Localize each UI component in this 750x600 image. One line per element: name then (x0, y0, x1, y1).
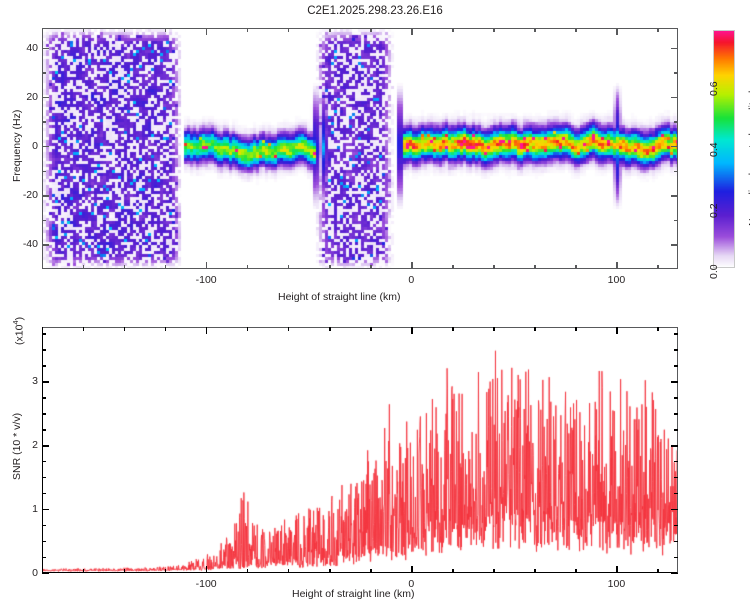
y-major-tick (42, 381, 49, 382)
x-tick-label: 0 (397, 275, 425, 286)
x-minor-tick-top (657, 327, 658, 331)
y-minor-tick (42, 525, 46, 526)
x-minor-tick (329, 265, 330, 269)
y-major-tick-right (671, 509, 678, 510)
y-minor-tick (42, 557, 46, 558)
x-minor-tick (657, 265, 658, 269)
y-minor-tick-right (674, 333, 678, 334)
y-tick-label: 1 (16, 504, 38, 515)
x-minor-tick (165, 569, 166, 573)
y-major-tick (42, 244, 49, 245)
y-minor-tick-right (674, 397, 678, 398)
y-tick-label: 20 (16, 92, 38, 103)
colorbar-tick-label: 0.4 (709, 142, 720, 157)
y-major-tick (42, 146, 49, 147)
y-minor-tick (42, 493, 46, 494)
snr-x-axis-label: Height of straight line (km) (292, 589, 415, 600)
y-minor-tick-right (674, 220, 678, 221)
y-tick-label: 0 (16, 568, 38, 579)
y-minor-tick-right (674, 429, 678, 430)
x-minor-tick-top (124, 327, 125, 331)
x-major-tick-top (206, 28, 207, 35)
y-minor-tick-right (674, 171, 678, 172)
y-minor-tick (42, 541, 46, 542)
y-major-tick-right (671, 48, 678, 49)
y-minor-tick-right (674, 349, 678, 350)
x-minor-tick-top (165, 28, 166, 32)
x-minor-tick-top (288, 28, 289, 32)
y-major-tick-right (671, 244, 678, 245)
x-minor-tick (329, 569, 330, 573)
y-minor-tick (42, 413, 46, 414)
figure-canvas: C2E1.2025.298.23.26.E16 -1000100-40-2002… (0, 0, 750, 600)
x-tick-label: -100 (192, 579, 220, 590)
snr-y-axis-exponent: (x104) (12, 317, 25, 345)
x-major-tick-top (206, 327, 207, 334)
y-tick-label: 3 (16, 376, 38, 387)
y-minor-tick-right (674, 365, 678, 366)
x-minor-tick-top (247, 28, 248, 32)
y-minor-tick-right (674, 477, 678, 478)
x-major-tick-top (616, 28, 617, 35)
spectrogram-y-axis-label: Frequency (Hz) (12, 110, 23, 182)
x-minor-tick-top (42, 28, 43, 32)
y-major-tick-right (671, 381, 678, 382)
colorbar-tick-label: 0.2 (709, 203, 720, 218)
x-minor-tick-top (124, 28, 125, 32)
x-minor-tick-top (370, 327, 371, 331)
x-minor-tick (83, 265, 84, 269)
x-minor-tick (288, 569, 289, 573)
snr-trace (43, 328, 677, 572)
y-minor-tick-right (674, 541, 678, 542)
snr-exponent-prefix: (x10 (14, 325, 26, 345)
x-tick-label: -100 (192, 275, 220, 286)
x-minor-tick (493, 569, 494, 573)
y-major-tick (42, 195, 49, 196)
x-minor-tick-top (370, 28, 371, 32)
snr-exponent-suffix: ) (14, 317, 26, 321)
x-minor-tick-top (534, 28, 535, 32)
y-major-tick-right (671, 146, 678, 147)
y-minor-tick-right (674, 413, 678, 414)
x-minor-tick-top (493, 28, 494, 32)
x-minor-tick (534, 569, 535, 573)
y-major-tick-right (671, 445, 678, 446)
x-minor-tick (452, 265, 453, 269)
y-minor-tick (42, 121, 46, 122)
x-minor-tick (247, 569, 248, 573)
y-minor-tick (42, 429, 46, 430)
y-tick-label: -40 (16, 239, 38, 250)
y-minor-tick (42, 349, 46, 350)
y-minor-tick-right (674, 493, 678, 494)
x-minor-tick-top (42, 327, 43, 331)
spectrogram-image (43, 29, 677, 268)
snr-y-axis-label: SNR (10 * v/v) (12, 413, 23, 480)
x-minor-tick (247, 265, 248, 269)
x-tick-label: 100 (602, 579, 630, 590)
x-minor-tick (124, 265, 125, 269)
x-major-tick (411, 262, 412, 269)
y-minor-tick (42, 171, 46, 172)
x-minor-tick-top (452, 28, 453, 32)
x-minor-tick-top (534, 327, 535, 331)
x-minor-tick-top (83, 28, 84, 32)
x-minor-tick (657, 569, 658, 573)
spectrogram-x-axis-label: Height of straight line (km) (278, 292, 401, 303)
x-major-tick-top (411, 28, 412, 35)
y-minor-tick-right (674, 461, 678, 462)
x-minor-tick (124, 569, 125, 573)
y-tick-label: 40 (16, 43, 38, 54)
y-major-tick-right (671, 573, 678, 574)
y-minor-tick (42, 333, 46, 334)
x-major-tick (616, 566, 617, 573)
y-major-tick (42, 97, 49, 98)
x-major-tick (411, 566, 412, 573)
x-minor-tick (165, 265, 166, 269)
x-major-tick (616, 262, 617, 269)
x-minor-tick-top (329, 327, 330, 331)
colorbar-tick-label: 0.6 (709, 81, 720, 96)
x-minor-tick (370, 569, 371, 573)
x-minor-tick (288, 265, 289, 269)
x-minor-tick (370, 265, 371, 269)
y-major-tick (42, 48, 49, 49)
x-minor-tick-top (452, 327, 453, 331)
x-minor-tick (42, 265, 43, 269)
y-minor-tick-right (674, 525, 678, 526)
x-major-tick (206, 566, 207, 573)
x-minor-tick-top (575, 28, 576, 32)
y-major-tick (42, 509, 49, 510)
x-minor-tick-top (493, 327, 494, 331)
x-minor-tick-top (657, 28, 658, 32)
y-minor-tick (42, 220, 46, 221)
x-minor-tick-top (329, 28, 330, 32)
x-minor-tick (534, 265, 535, 269)
y-minor-tick-right (674, 121, 678, 122)
y-minor-tick (42, 397, 46, 398)
x-minor-tick-top (83, 327, 84, 331)
y-major-tick-right (671, 195, 678, 196)
x-minor-tick-top (247, 327, 248, 331)
x-minor-tick (575, 265, 576, 269)
x-minor-tick-top (165, 327, 166, 331)
y-minor-tick (42, 461, 46, 462)
page-title: C2E1.2025.298.23.26.E16 (0, 5, 750, 17)
x-minor-tick (575, 569, 576, 573)
x-major-tick-top (411, 327, 412, 334)
x-minor-tick (452, 569, 453, 573)
y-minor-tick-right (674, 557, 678, 558)
y-major-tick (42, 445, 49, 446)
x-tick-label: 100 (602, 275, 630, 286)
y-minor-tick (42, 477, 46, 478)
y-major-tick (42, 573, 49, 574)
y-tick-label: -20 (16, 190, 38, 201)
y-minor-tick-right (674, 72, 678, 73)
x-minor-tick (493, 265, 494, 269)
x-minor-tick-top (288, 327, 289, 331)
x-major-tick-top (616, 327, 617, 334)
y-minor-tick (42, 72, 46, 73)
y-minor-tick (42, 365, 46, 366)
x-major-tick (206, 262, 207, 269)
x-minor-tick-top (575, 327, 576, 331)
colorbar-tick-label: 0.0 (709, 264, 720, 279)
snr-exponent-power: 4 (11, 320, 20, 324)
x-minor-tick (83, 569, 84, 573)
y-major-tick-right (671, 97, 678, 98)
